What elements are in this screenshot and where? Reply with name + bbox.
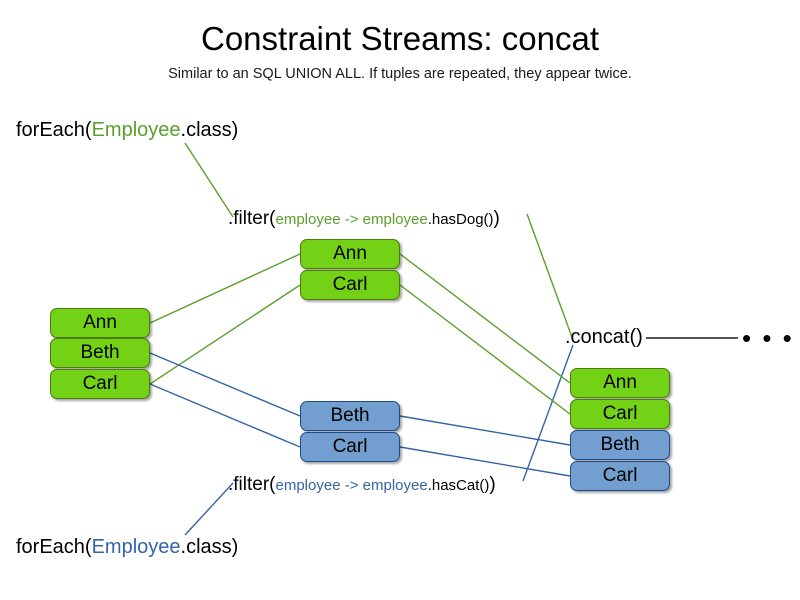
leader-filter-bottom-to-concat	[523, 345, 573, 481]
node-result-carl-dog[interactable]: Carl	[570, 399, 670, 429]
page-title: Constraint Streams: concat	[0, 20, 800, 58]
node-label: Beth	[330, 405, 369, 427]
node-source-beth[interactable]: Beth	[50, 338, 150, 368]
node-result-carl-cat[interactable]: Carl	[570, 461, 670, 491]
edge-source-carl-to-dog-carl	[150, 285, 300, 384]
node-label: Carl	[333, 274, 368, 296]
label-filter-cat: .filter(employee -> employee.hasCat())	[228, 475, 496, 494]
node-label: Carl	[603, 465, 638, 487]
page-subtitle: Similar to an SQL UNION ALL. If tuples a…	[0, 66, 800, 82]
node-dog-carl[interactable]: Carl	[300, 270, 400, 300]
node-cat-beth[interactable]: Beth	[300, 401, 400, 431]
filter-top-param: employee	[276, 211, 341, 228]
filter-top-body-call: .hasDog()	[428, 211, 494, 228]
filter-top-method: .filter(	[228, 208, 276, 229]
foreach-top-type: Employee	[92, 119, 181, 141]
foreach-top-prefix: forEach(	[16, 119, 92, 141]
node-result-ann[interactable]: Ann	[570, 368, 670, 398]
node-result-beth[interactable]: Beth	[570, 430, 670, 460]
filter-top-body-var: employee	[363, 211, 428, 228]
edge-source-ann-to-dog-ann	[150, 254, 300, 323]
edge-source-carl-to-cat-carl	[150, 384, 300, 447]
filter-bottom-body-call: .hasCat()	[428, 477, 490, 494]
node-label: Ann	[83, 312, 117, 334]
node-label: Carl	[83, 373, 118, 395]
foreach-top-suffix: .class)	[181, 119, 239, 141]
node-source-ann[interactable]: Ann	[50, 308, 150, 338]
label-foreach-bottom: forEach(Employee.class)	[16, 537, 238, 557]
node-label: Beth	[600, 434, 639, 456]
edge-cat-beth-to-result-beth	[400, 416, 570, 445]
label-filter-dog: .filter(employee -> employee.hasDog())	[228, 209, 500, 228]
node-dog-ann[interactable]: Ann	[300, 239, 400, 269]
continuation-ellipsis: • • •	[742, 323, 794, 354]
edge-dog-ann-to-result-ann	[400, 254, 570, 383]
node-label: Beth	[80, 342, 119, 364]
node-label: Carl	[603, 403, 638, 425]
node-cat-carl[interactable]: Carl	[300, 432, 400, 462]
filter-bottom-close: )	[489, 474, 495, 495]
leader-filter-top-to-concat	[527, 214, 573, 340]
node-label: Ann	[333, 243, 367, 265]
filter-bottom-method: .filter(	[228, 474, 276, 495]
filter-bottom-arrow: ->	[341, 477, 363, 494]
filter-bottom-param: employee	[276, 477, 341, 494]
connector-layer	[0, 0, 800, 600]
label-concat: .concat()	[565, 326, 643, 349]
foreach-bottom-prefix: forEach(	[16, 536, 92, 558]
edge-dog-carl-to-result-carl	[400, 285, 570, 414]
edge-cat-carl-to-result-carl	[400, 447, 570, 476]
node-label: Carl	[333, 436, 368, 458]
foreach-bottom-suffix: .class)	[181, 536, 239, 558]
leader-foreach-top	[185, 143, 233, 217]
leader-foreach-bottom	[185, 483, 233, 535]
filter-top-arrow: ->	[341, 211, 363, 228]
edge-source-beth-to-cat-beth	[150, 353, 300, 416]
diagram-canvas: Constraint Streams: concat Similar to an…	[0, 0, 800, 600]
label-foreach-top: forEach(Employee.class)	[16, 120, 238, 140]
filter-bottom-body-var: employee	[363, 477, 428, 494]
node-label: Ann	[603, 372, 637, 394]
foreach-bottom-type: Employee	[92, 536, 181, 558]
node-source-carl[interactable]: Carl	[50, 369, 150, 399]
filter-top-close: )	[494, 208, 500, 229]
